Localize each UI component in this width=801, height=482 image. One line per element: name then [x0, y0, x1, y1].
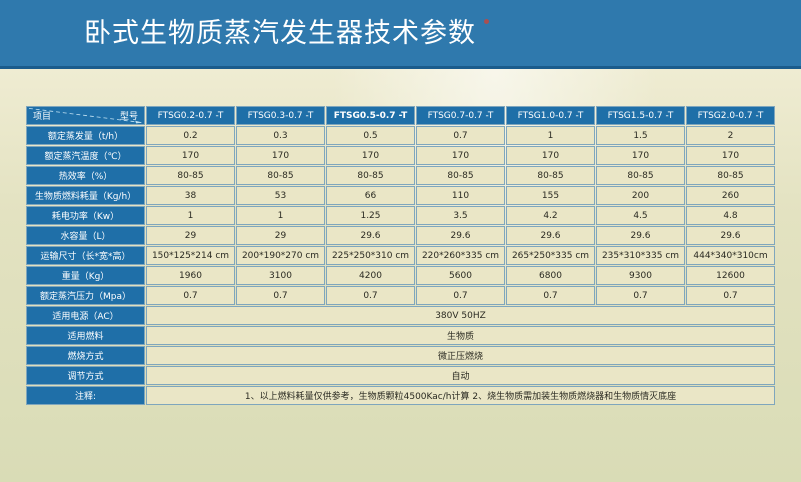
cell-r2-c6: 80-85 [686, 166, 775, 185]
cell-r5-c5: 29.6 [596, 226, 685, 245]
row-label-2: 热效率（%） [26, 166, 145, 185]
cell-r2-c2: 80-85 [326, 166, 415, 185]
merged-row-value-0: 380V 50HZ [146, 306, 775, 325]
merged-row-value-1: 生物质 [146, 326, 775, 345]
page-banner: 卧式生物质蒸汽发生器技术参数 [0, 0, 801, 66]
cell-r2-c1: 80-85 [236, 166, 325, 185]
cell-r4-c1: 1 [236, 206, 325, 225]
cell-r4-c6: 4.8 [686, 206, 775, 225]
corner-model-label: 型号 [120, 109, 138, 122]
cell-r3-c2: 66 [326, 186, 415, 205]
cell-r0-c1: 0.3 [236, 126, 325, 145]
cell-r8-c6: 0.7 [686, 286, 775, 305]
row-label-3: 生物质燃料耗量（Kg/h） [26, 186, 145, 205]
cell-r5-c3: 29.6 [416, 226, 505, 245]
merged-row-label-1: 适用燃料 [26, 326, 145, 345]
cell-r7-c2: 4200 [326, 266, 415, 285]
table-row-merged: 适用电源（AC）380V 50HZ [26, 306, 775, 325]
cell-r6-c0: 150*125*214 cm [146, 246, 235, 265]
cell-r7-c1: 3100 [236, 266, 325, 285]
cell-r6-c4: 265*250*335 cm [506, 246, 595, 265]
cell-r3-c4: 155 [506, 186, 595, 205]
cell-r0-c3: 0.7 [416, 126, 505, 145]
cell-r8-c4: 0.7 [506, 286, 595, 305]
cell-r2-c4: 80-85 [506, 166, 595, 185]
cell-r3-c3: 110 [416, 186, 505, 205]
column-header-5: FTSG1.5-0.7 -T [596, 106, 685, 125]
cell-r8-c2: 0.7 [326, 286, 415, 305]
cell-r0-c0: 0.2 [146, 126, 235, 145]
cell-r4-c5: 4.5 [596, 206, 685, 225]
merged-row-label-3: 调节方式 [26, 366, 145, 385]
cell-r0-c6: 2 [686, 126, 775, 145]
cell-r5-c2: 29.6 [326, 226, 415, 245]
column-header-4: FTSG1.0-0.7 -T [506, 106, 595, 125]
column-header-3: FTSG0.7-0.7 -T [416, 106, 505, 125]
cell-r0-c4: 1 [506, 126, 595, 145]
cell-r0-c5: 1.5 [596, 126, 685, 145]
cell-r8-c5: 0.7 [596, 286, 685, 305]
page-title: 卧式生物质蒸汽发生器技术参数 [84, 18, 476, 50]
merged-row-label-2: 燃烧方式 [26, 346, 145, 365]
cell-r3-c5: 200 [596, 186, 685, 205]
merged-row-value-2: 微正压燃烧 [146, 346, 775, 365]
specification-table: 项目型号FTSG0.2-0.7 -TFTSG0.3-0.7 -TFTSG0.5-… [25, 105, 776, 406]
cell-r6-c2: 225*250*310 cm [326, 246, 415, 265]
table-row-merged: 适用燃料生物质 [26, 326, 775, 345]
cell-r2-c3: 80-85 [416, 166, 505, 185]
table-row: 热效率（%）80-8580-8580-8580-8580-8580-8580-8… [26, 166, 775, 185]
table-row: 重量（Kg）19603100420056006800930012600 [26, 266, 775, 285]
row-label-7: 重量（Kg） [26, 266, 145, 285]
cell-r5-c4: 29.6 [506, 226, 595, 245]
cell-r1-c2: 170 [326, 146, 415, 165]
cell-r4-c4: 4.2 [506, 206, 595, 225]
corner-item-label: 项目 [33, 109, 51, 122]
row-label-6: 运输尺寸（长*宽*高） [26, 246, 145, 265]
table-row-merged: 注释:1、以上燃料耗量仅供参考，生物质颗粒4500Kac/h计算 2、烧生物质需… [26, 386, 775, 405]
cell-r3-c0: 38 [146, 186, 235, 205]
merged-row-value-4: 1、以上燃料耗量仅供参考，生物质颗粒4500Kac/h计算 2、烧生物质需加装生… [146, 386, 775, 405]
cell-r1-c0: 170 [146, 146, 235, 165]
table-header-row: 项目型号FTSG0.2-0.7 -TFTSG0.3-0.7 -TFTSG0.5-… [26, 106, 775, 125]
cell-r4-c2: 1.25 [326, 206, 415, 225]
table-row: 耗电功率（Kw）111.253.54.24.54.8 [26, 206, 775, 225]
cell-r5-c1: 29 [236, 226, 325, 245]
cell-r1-c1: 170 [236, 146, 325, 165]
cell-r6-c5: 235*310*335 cm [596, 246, 685, 265]
cell-r5-c6: 29.6 [686, 226, 775, 245]
cell-r7-c5: 9300 [596, 266, 685, 285]
cell-r0-c2: 0.5 [326, 126, 415, 145]
column-header-1: FTSG0.3-0.7 -T [236, 106, 325, 125]
cell-r4-c3: 3.5 [416, 206, 505, 225]
table-row: 额定蒸汽压力（Mpa）0.70.70.70.70.70.70.7 [26, 286, 775, 305]
cell-r1-c5: 170 [596, 146, 685, 165]
table-row-merged: 燃烧方式微正压燃烧 [26, 346, 775, 365]
cell-r2-c0: 80-85 [146, 166, 235, 185]
cell-r2-c5: 80-85 [596, 166, 685, 185]
cell-r3-c6: 260 [686, 186, 775, 205]
decorative-dot-icon [484, 19, 489, 24]
cell-r5-c0: 29 [146, 226, 235, 245]
row-label-8: 额定蒸汽压力（Mpa） [26, 286, 145, 305]
cell-r8-c1: 0.7 [236, 286, 325, 305]
table-corner-cell: 项目型号 [26, 106, 145, 125]
cell-r4-c0: 1 [146, 206, 235, 225]
row-label-1: 额定蒸汽温度（℃） [26, 146, 145, 165]
cell-r7-c3: 5600 [416, 266, 505, 285]
table-row: 额定蒸发量（t/h）0.20.30.50.711.52 [26, 126, 775, 145]
table-row: 生物质燃料耗量（Kg/h）385366110155200260 [26, 186, 775, 205]
merged-row-label-4: 注释: [26, 386, 145, 405]
table-body: 项目型号FTSG0.2-0.7 -TFTSG0.3-0.7 -TFTSG0.5-… [26, 106, 775, 405]
cell-r1-c6: 170 [686, 146, 775, 165]
table-row-merged: 调节方式自动 [26, 366, 775, 385]
column-header-6: FTSG2.0-0.7 -T [686, 106, 775, 125]
column-header-2: FTSG0.5-0.7 -T [326, 106, 415, 125]
cell-r7-c0: 1960 [146, 266, 235, 285]
cell-r6-c1: 200*190*270 cm [236, 246, 325, 265]
cell-r1-c3: 170 [416, 146, 505, 165]
cell-r7-c4: 6800 [506, 266, 595, 285]
column-header-0: FTSG0.2-0.7 -T [146, 106, 235, 125]
cell-r1-c4: 170 [506, 146, 595, 165]
row-label-4: 耗电功率（Kw） [26, 206, 145, 225]
cell-r3-c1: 53 [236, 186, 325, 205]
cell-r8-c0: 0.7 [146, 286, 235, 305]
table-row: 水容量（L）292929.629.629.629.629.6 [26, 226, 775, 245]
merged-row-label-0: 适用电源（AC） [26, 306, 145, 325]
merged-row-value-3: 自动 [146, 366, 775, 385]
cell-r6-c6: 444*340*310cm [686, 246, 775, 265]
table-row: 运输尺寸（长*宽*高）150*125*214 cm200*190*270 cm2… [26, 246, 775, 265]
row-label-0: 额定蒸发量（t/h） [26, 126, 145, 145]
table-row: 额定蒸汽温度（℃）170170170170170170170 [26, 146, 775, 165]
cell-r7-c6: 12600 [686, 266, 775, 285]
row-label-5: 水容量（L） [26, 226, 145, 245]
cell-r6-c3: 220*260*335 cm [416, 246, 505, 265]
cell-r8-c3: 0.7 [416, 286, 505, 305]
